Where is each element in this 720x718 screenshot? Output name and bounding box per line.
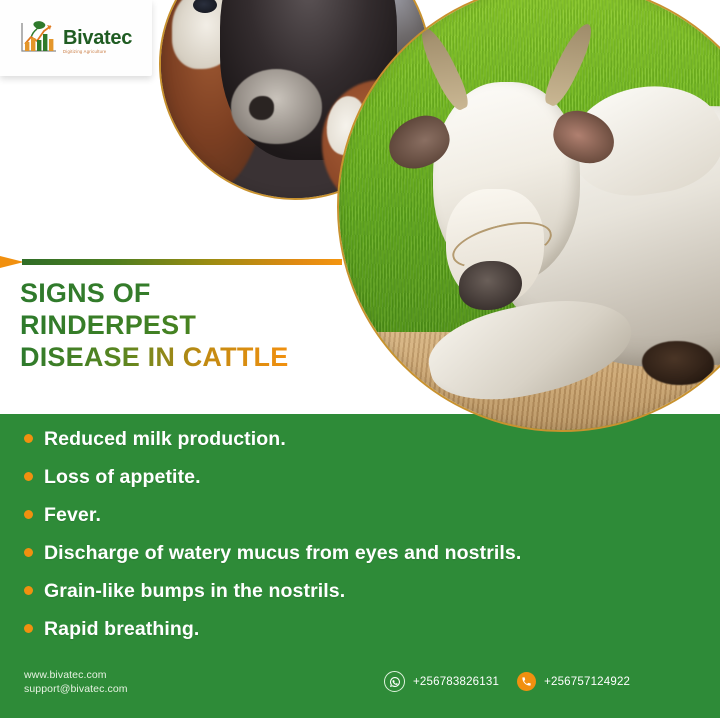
bullet-dot-icon [24,472,33,481]
bar-chart-leaf-icon [18,20,60,56]
symptom-text: Grain-like bumps in the nostrils. [44,582,345,602]
brand-name: Bivatec [63,28,132,48]
bullet-dot-icon [24,624,33,633]
whatsapp-number[interactable]: +256783826131 [413,676,499,688]
accent-rule [0,256,344,268]
footer-contacts: +256783826131 +256757124922 [384,671,630,692]
bullet-dot-icon [24,510,33,519]
list-item: Fever. [24,506,704,544]
footer-web-block: www.bivatec.com support@bivatec.com [24,668,128,696]
symptom-text: Loss of appetite. [44,468,201,488]
phone-icon [517,672,536,691]
footer: www.bivatec.com support@bivatec.com +256… [0,660,720,718]
title-line-1: SIGNS OF [20,278,288,310]
symptom-text: Fever. [44,506,101,526]
white-cow-resting-on-grass-photo [337,0,720,432]
website-link[interactable]: www.bivatec.com [24,668,128,682]
whatsapp-icon [384,671,405,692]
bullet-dot-icon [24,434,33,443]
brand-logo-card[interactable]: Bivatec Digitizing Agriculture [0,0,152,76]
symptom-list: Reduced milk production. Loss of appetit… [24,430,704,658]
title-line-2: RINDERPEST [20,310,288,342]
resting-cow-illustration [339,0,720,430]
list-item: Discharge of watery mucus from eyes and … [24,544,704,582]
phone-number[interactable]: +256757124922 [544,676,630,688]
brand-logo[interactable]: Bivatec Digitizing Agriculture [18,20,132,56]
symptom-text: Reduced milk production. [44,430,286,450]
symptom-text: Rapid breathing. [44,620,199,640]
bullet-dot-icon [24,586,33,595]
title-line-3: DISEASE IN CATTLE [20,342,288,374]
bullet-dot-icon [24,548,33,557]
email-link[interactable]: support@bivatec.com [24,682,128,696]
phone-contact[interactable]: +256757124922 [517,672,630,691]
brand-tagline: Digitizing Agriculture [63,50,132,54]
poster-root: Bivatec Digitizing Agriculture SIGNS OF … [0,0,720,718]
list-item: Rapid breathing. [24,620,704,658]
whatsapp-contact[interactable]: +256783826131 [384,671,499,692]
arrow-triangle-icon [0,256,24,268]
symptom-text: Discharge of watery mucus from eyes and … [44,544,521,564]
list-item: Reduced milk production. [24,430,704,468]
list-item: Grain-like bumps in the nostrils. [24,582,704,620]
list-item: Loss of appetite. [24,468,704,506]
accent-rule-line [22,259,342,264]
page-title: SIGNS OF RINDERPEST DISEASE IN CATTLE [20,278,288,374]
